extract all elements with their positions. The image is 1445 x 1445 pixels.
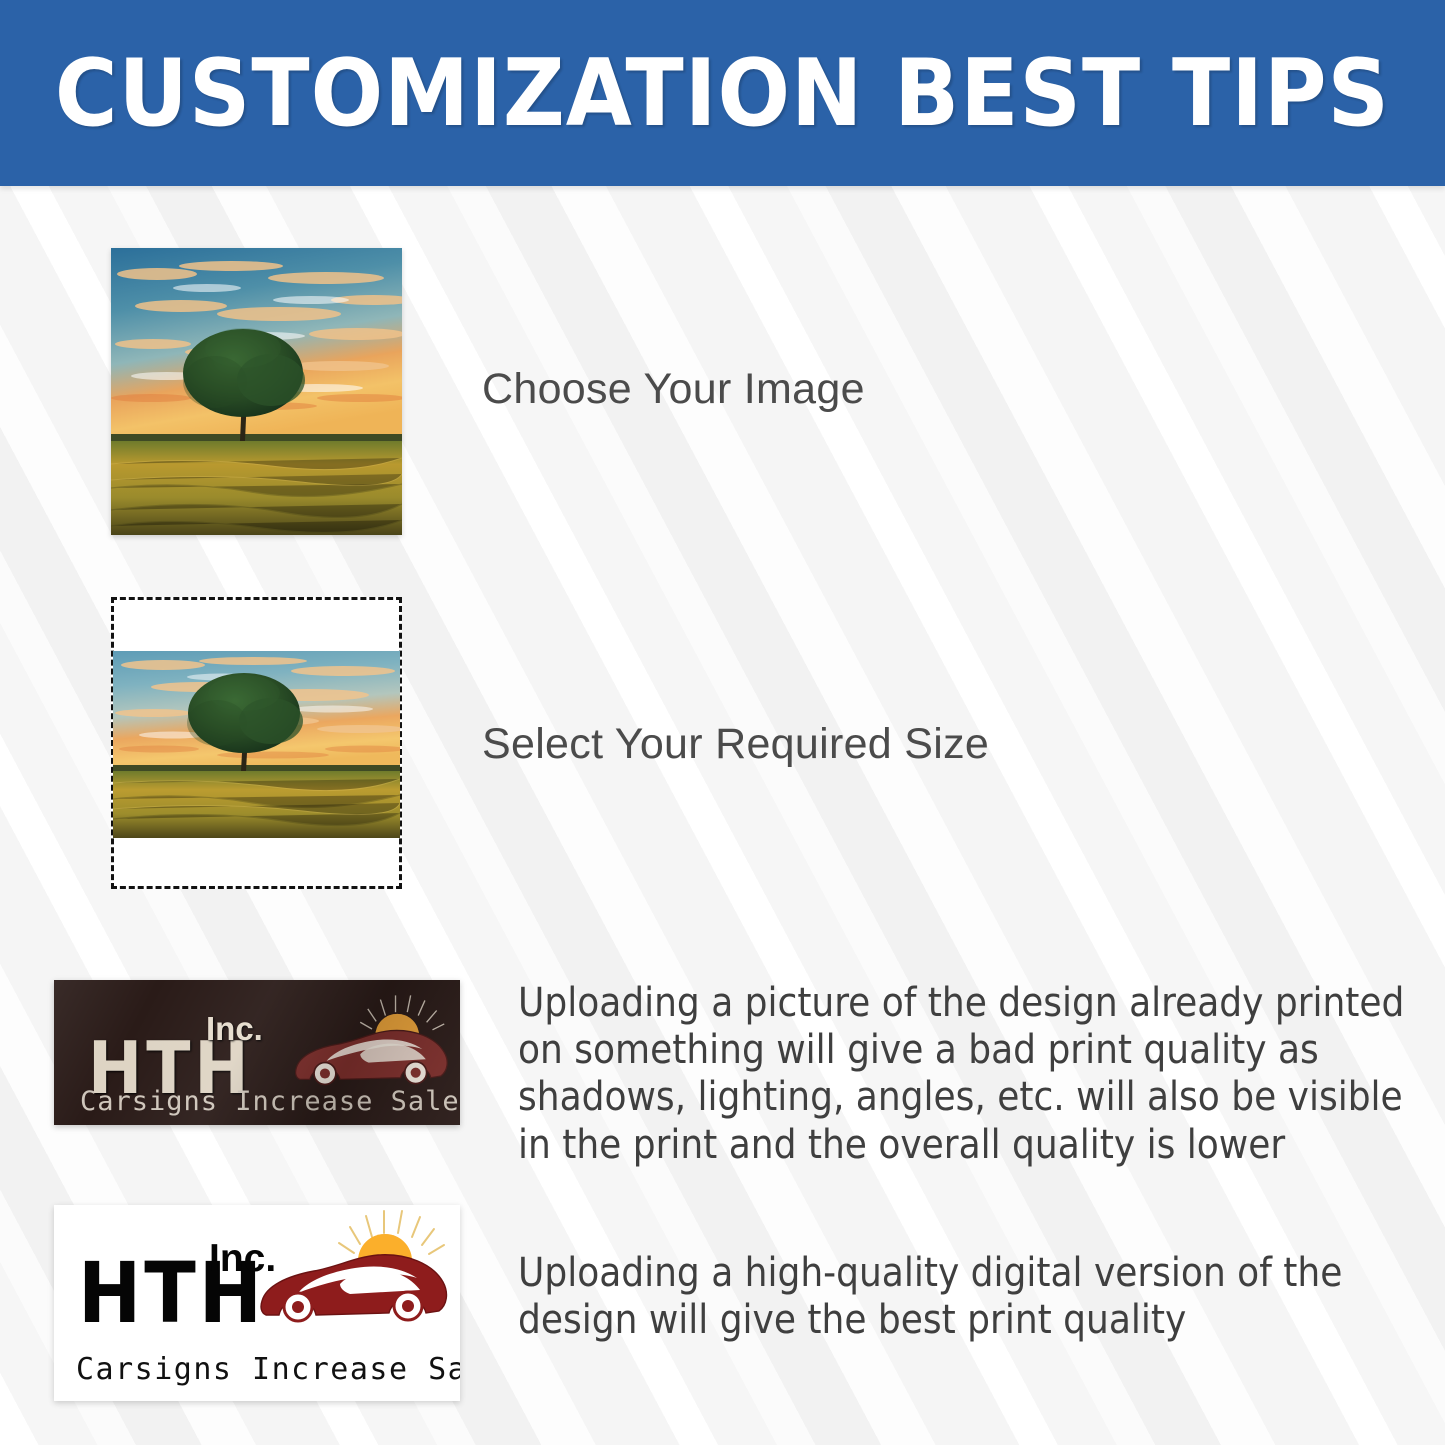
step-label-select-size: Select Your Required Size — [482, 720, 989, 769]
header-banner: CUSTOMIZATION BEST TIPS — [0, 0, 1445, 186]
hth-logo-photo: HTH Inc. Carsigns Increase Sales — [54, 980, 460, 1125]
page-title: CUSTOMIZATION BEST TIPS — [55, 47, 1390, 140]
photo-digital-hth-logo: HTH Inc. Carsigns Increase Sales — [54, 1205, 460, 1401]
sunset-tree-scene-wide — [113, 651, 400, 838]
hth-logo-digital: HTH Inc. Carsigns Increase Sales — [54, 1205, 460, 1401]
step-label-choose-image: Choose Your Image — [482, 365, 865, 414]
sunset-tree-scene-square — [111, 248, 402, 535]
photo-select-size — [113, 651, 400, 838]
car-with-sun-icon — [288, 990, 456, 1115]
step-label-good-upload: Uploading a high-quality digital version… — [518, 1250, 1378, 1344]
step-label-bad-upload: Uploading a picture of the design alread… — [518, 980, 1408, 1169]
hth-inc-label: Inc. — [206, 1012, 263, 1045]
car-with-sun-icon — [254, 1209, 454, 1357]
infographic-page: CUSTOMIZATION BEST TIPS — [0, 0, 1445, 1445]
photo-choose-image — [111, 248, 402, 535]
photo-printed-hth-banner: HTH Inc. Carsigns Increase Sales — [54, 980, 460, 1125]
hth-tagline: Carsigns Increase Sales — [76, 1355, 460, 1385]
